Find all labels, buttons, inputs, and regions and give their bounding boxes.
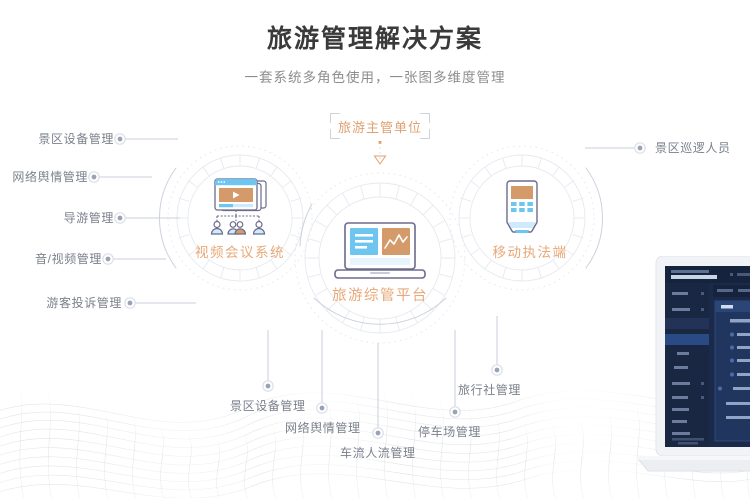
- badge-corner-br: [420, 129, 430, 139]
- laptop-dashboard-icon: [332, 222, 428, 284]
- spoke-label-bottom-4[interactable]: 停车场管理: [418, 425, 481, 439]
- spoke-label-bottom-3[interactable]: 车流人流管理: [340, 446, 416, 460]
- spoke-label-bottom-5[interactable]: 旅行社管理: [458, 383, 521, 397]
- node-caption-video-conference: 视频会议系统: [160, 241, 320, 261]
- badge-label: 旅游主管单位: [338, 117, 422, 136]
- spoke-label-right-1[interactable]: 景区巡逻人员: [655, 141, 731, 155]
- header: 旅游管理解决方案 一套系统多角色使用，一张图多维度管理: [0, 22, 750, 88]
- spoke-label-left-2[interactable]: 网络舆情管理: [12, 170, 88, 184]
- badge-tourism-authority[interactable]: 旅游主管单位: [330, 113, 430, 139]
- badge-corner-bl: [330, 129, 340, 139]
- spoke-label-left-3[interactable]: 导游管理: [64, 211, 114, 225]
- spoke-label-left-5[interactable]: 游客投诉管理: [46, 296, 122, 310]
- node-caption-mobile-enforcement: 移动执法端: [450, 241, 610, 261]
- spoke-label-bottom-2[interactable]: 网络舆情管理: [285, 421, 361, 435]
- badge-corner-tl: [330, 113, 340, 123]
- video-conference-icon: [206, 178, 274, 236]
- spoke-label-left-1[interactable]: 景区设备管理: [38, 132, 114, 146]
- badge-corner-tr: [420, 113, 430, 123]
- laptop-dashboard-mockup: [638, 256, 750, 486]
- node-caption-tourism-platform: 旅游综管平台: [300, 284, 460, 305]
- handheld-device-icon: [500, 180, 544, 238]
- page-subtitle: 一套系统多角色使用，一张图多维度管理: [0, 68, 750, 88]
- page-title: 旅游管理解决方案: [0, 22, 750, 56]
- spoke-label-bottom-1[interactable]: 景区设备管理: [230, 399, 306, 413]
- infographic-canvas: 旅游管理解决方案 一套系统多角色使用，一张图多维度管理 旅游主管单位: [0, 0, 750, 498]
- spoke-label-left-4[interactable]: 音/视频管理: [35, 252, 102, 266]
- arrow-down-icon: [375, 141, 386, 164]
